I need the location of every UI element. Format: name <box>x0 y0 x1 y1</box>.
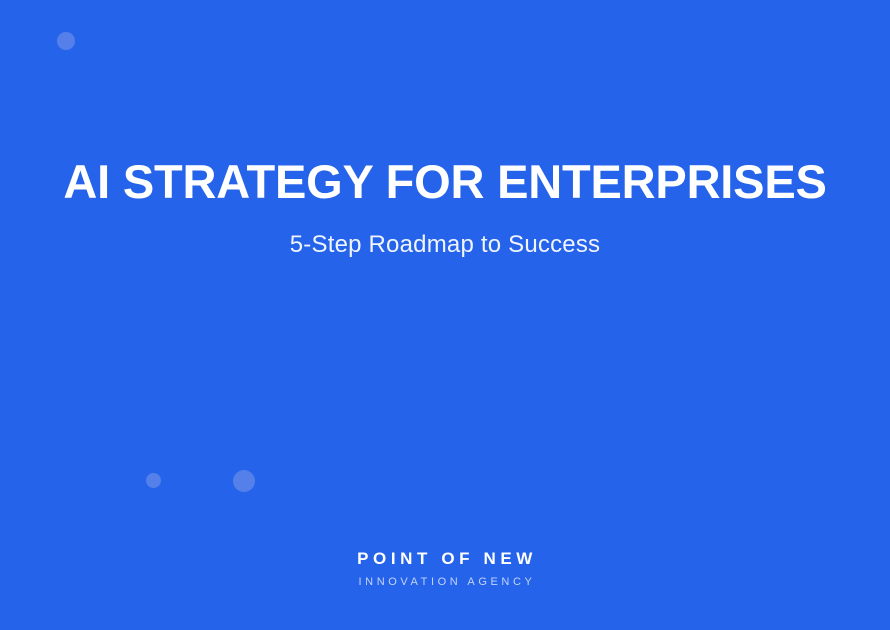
slide-subtitle: 5-Step Roadmap to Success <box>20 231 870 260</box>
hero-block: AI STRATEGY FOR ENTERPRISES 5-Step Roadm… <box>0 158 890 260</box>
presentation-slide: AI STRATEGY FOR ENTERPRISES 5-Step Roadm… <box>0 0 890 630</box>
slide-title: AI STRATEGY FOR ENTERPRISES <box>20 158 870 207</box>
brand-name: POINT OF NEW <box>357 549 537 569</box>
brand-tagline: INNOVATION AGENCY <box>357 576 537 589</box>
brand-footer-inner: POINT OF NEW INNOVATION AGENCY <box>357 549 537 590</box>
decorative-circle-lower-large-icon <box>233 470 255 492</box>
decorative-circle-lower-small-icon <box>146 473 161 488</box>
brand-footer: POINT OF NEW INNOVATION AGENCY <box>0 549 890 590</box>
decorative-circle-top-left-icon <box>57 32 75 50</box>
